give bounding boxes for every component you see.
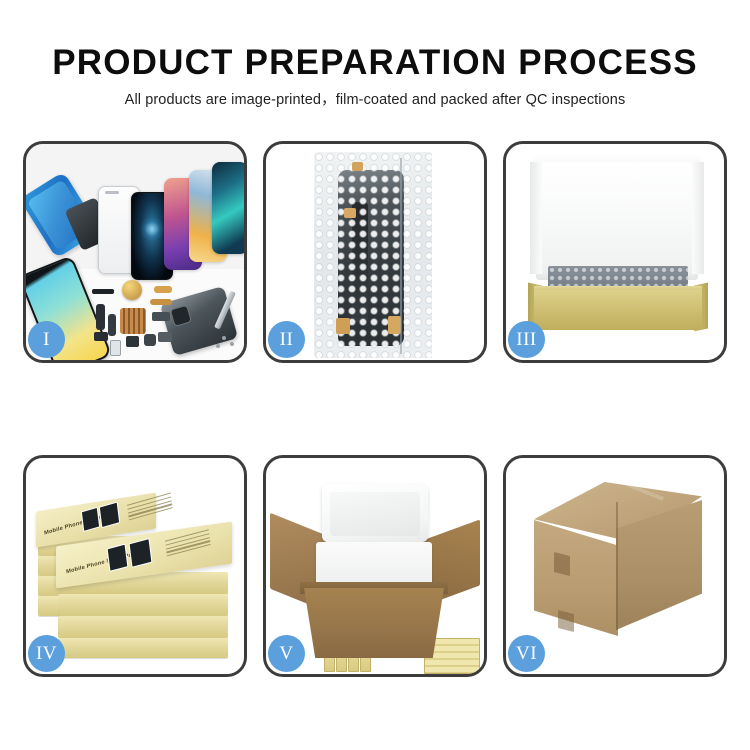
front-stack-box-4 (58, 638, 228, 658)
step-badge-2: II (268, 321, 305, 358)
part-flex-cable-b (108, 314, 116, 336)
carton-vertical-edge (616, 502, 618, 630)
foam-lid-panel (536, 162, 698, 280)
teal-striped-phone (212, 162, 244, 254)
process-step-panel-1[interactable]: I (23, 141, 247, 363)
process-step-panel-2[interactable]: II (263, 141, 487, 363)
box-window-back-1 (81, 507, 100, 532)
process-step-cell-5: V (255, 455, 495, 677)
tape-piece-mid (344, 208, 356, 218)
process-step-panel-6[interactable]: VI (503, 455, 727, 677)
step-badge-1: I (28, 321, 65, 358)
part-speaker-strip (92, 289, 114, 294)
bubble-wrap-bag (314, 152, 432, 358)
front-stack-box-3 (58, 616, 228, 638)
tape-piece-top (352, 162, 363, 171)
foam-lid-left-fold (530, 162, 542, 274)
carton-front-face (534, 520, 618, 636)
box-window-front-2 (129, 538, 153, 568)
part-sim-tray (110, 340, 121, 356)
step-badge-5: V (268, 635, 305, 672)
bubble-texture (314, 152, 432, 358)
screw-3 (216, 344, 220, 348)
process-step-grid: I II (15, 141, 735, 676)
part-gold-flex-a (154, 286, 172, 293)
page-title: PRODUCT PREPARATION PROCESS (0, 0, 750, 80)
screw-1 (222, 336, 226, 340)
part-camera-module (126, 336, 139, 347)
process-step-cell-1: I (15, 141, 255, 363)
process-step-cell-2: II (255, 141, 495, 363)
foam-lid-right-fold (692, 162, 704, 274)
process-step-cell-3: III (495, 141, 735, 363)
bag-seam (400, 158, 402, 354)
box-stack: Mobile Phone Spare Parts Mobile Phone Sp… (34, 476, 240, 662)
front-stack-box-2 (58, 594, 228, 616)
step-badge-4: IV (28, 635, 65, 672)
kraft-box-front (534, 290, 702, 330)
part-gold-flex-b (150, 299, 172, 305)
vibration-motor-part (122, 280, 142, 300)
part-flex-cable-a (96, 304, 105, 330)
part-connector-a (152, 312, 170, 321)
part-connector-c (158, 332, 172, 342)
product-preparation-process-page: PRODUCT PREPARATION PROCESS All products… (0, 0, 750, 750)
page-header: PRODUCT PREPARATION PROCESS All products… (0, 0, 750, 108)
carton-body (304, 588, 444, 658)
box-label-front: Mobile Phone Spare Parts (66, 550, 140, 575)
part-shield-plate (94, 332, 108, 341)
copper-grid-chip (120, 308, 146, 334)
tape-piece-bottom-left (336, 318, 350, 334)
process-step-panel-3[interactable]: III (503, 141, 727, 363)
box-spec-lines-front (165, 529, 211, 559)
process-step-cell-6: VI (495, 455, 735, 677)
foam-box-lid (322, 484, 428, 542)
step-badge-6: VI (508, 635, 545, 672)
box-window-front-1 (107, 544, 129, 572)
page-subtitle: All products are image-printed，film-coat… (0, 80, 750, 108)
process-step-cell-4: Mobile Phone Spare Parts Mobile Phone Sp… (15, 455, 255, 677)
process-step-panel-5[interactable]: V (263, 455, 487, 677)
process-step-panel-4[interactable]: Mobile Phone Spare Parts Mobile Phone Sp… (23, 455, 247, 677)
box-window-back-2 (99, 502, 121, 529)
screw-2 (230, 342, 234, 346)
carton-tab-upper (554, 552, 570, 576)
carton-tab-lower (558, 610, 574, 632)
part-connector-b (144, 334, 156, 346)
box-spec-lines-back (127, 493, 173, 524)
step-badge-3: III (508, 321, 545, 358)
